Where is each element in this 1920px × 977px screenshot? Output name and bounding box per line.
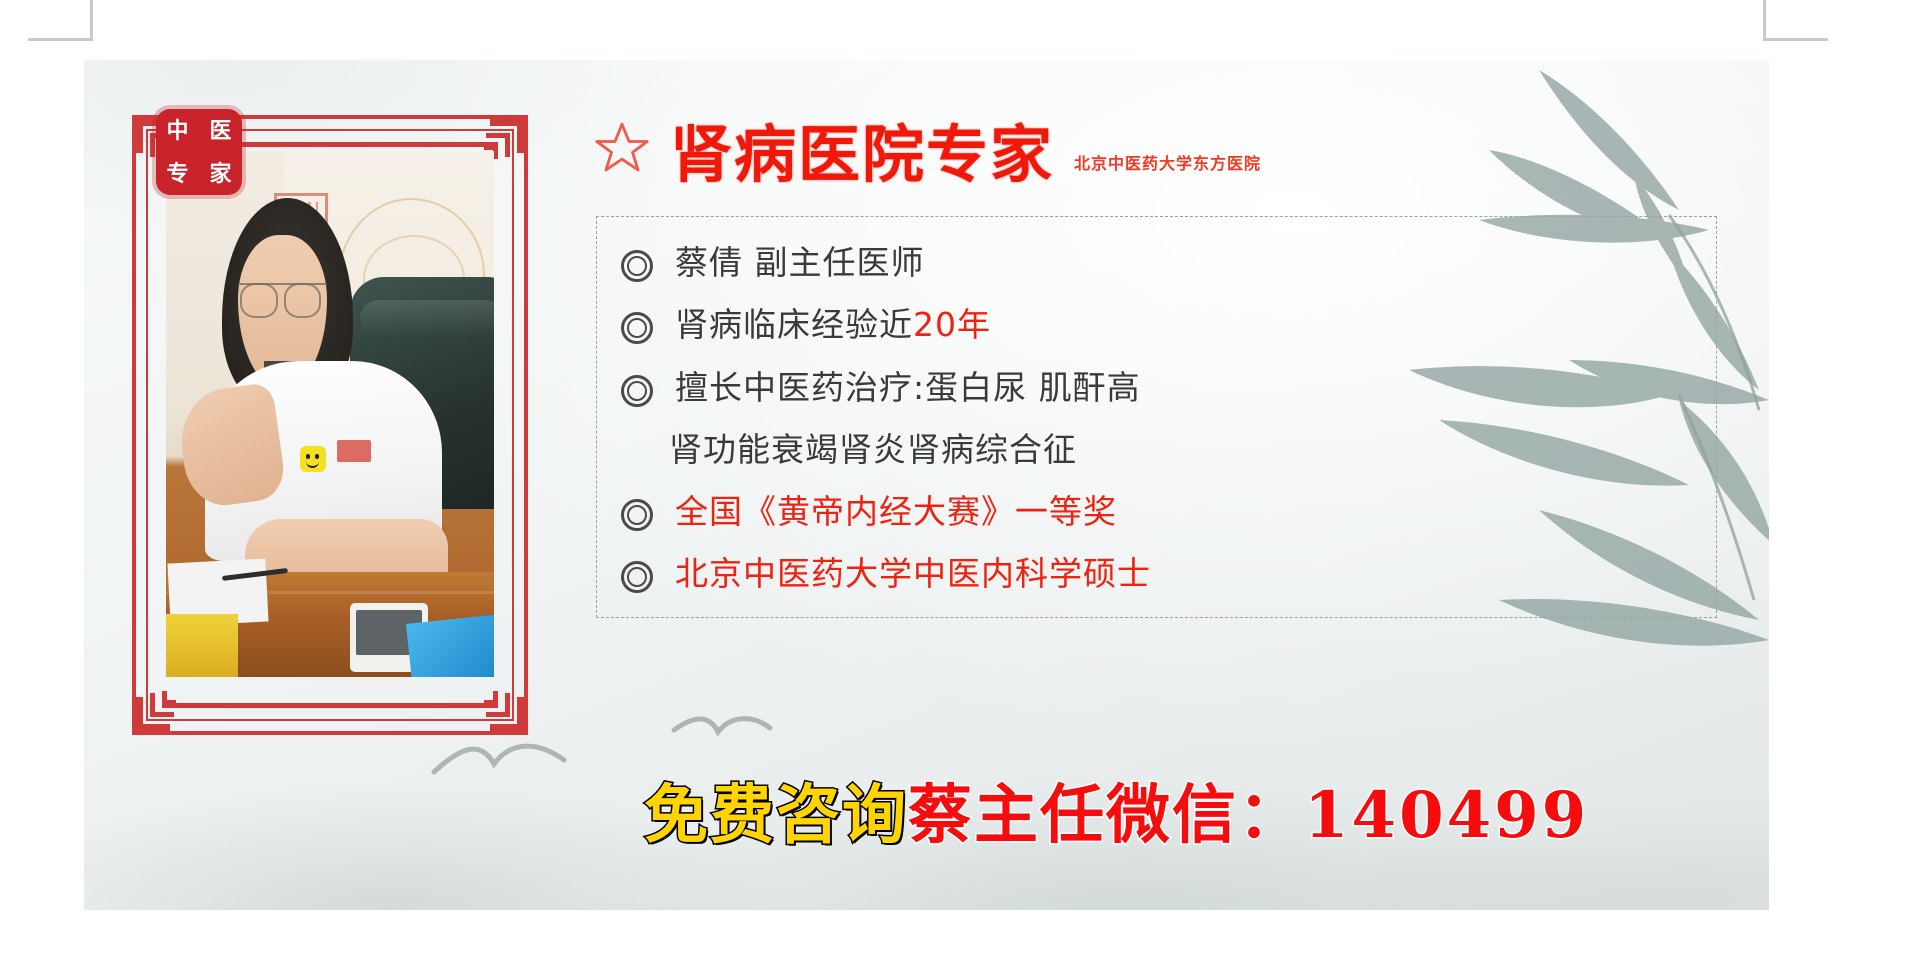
credential-text: 肾病临床经验近20年 — [675, 305, 991, 345]
wechat-number: 140499 — [1304, 778, 1589, 853]
credential-row: 擅长中医药治疗:蛋白尿 肌酐高 — [621, 368, 1702, 408]
doctor-portrait-photo — [166, 151, 494, 677]
credential-text: 肾功能衰竭肾炎肾病综合征 — [669, 430, 1077, 470]
free-consult-label: 免费咨询 — [644, 778, 908, 853]
credential-text: 全国《黄帝内经大赛》一等奖 — [675, 492, 1117, 532]
page-title: 肾病医院专家 — [670, 124, 1054, 186]
credential-row: 北京中医药大学中医内科学硕士 — [621, 554, 1702, 594]
credential-row: 蔡倩 副主任医师 — [621, 243, 1702, 283]
credential-row-continuation: 肾功能衰竭肾炎肾病综合征 — [621, 430, 1702, 470]
eyeglasses-icon — [238, 283, 327, 317]
credential-text: 擅长中医药治疗:蛋白尿 肌酐高 — [675, 368, 1141, 408]
double-circle-bullet-icon — [621, 312, 653, 344]
crop-mark-top-right — [1763, 0, 1828, 41]
credential-text: 蔡倩 副主任医师 — [675, 243, 925, 283]
credential-text-highlight: 20年 — [913, 305, 991, 344]
tcm-expert-seal: 中 医 专 家 — [156, 109, 242, 195]
seal-char-2: 医 — [209, 120, 231, 142]
credential-row: 肾病临床经验近20年 — [621, 305, 1702, 345]
hospital-subtitle: 北京中医药大学东方医院 — [1074, 150, 1261, 174]
poster-canvas: 中 医 专 家 肾病医院专家 北京中医药大学东方医院 蔡倩 副主任医师 肾病临床… — [84, 60, 1769, 910]
frame-corner-bottom-left — [136, 673, 194, 731]
crop-mark-top-left — [28, 0, 93, 41]
credential-text-plain: 肾病临床经验近 — [675, 305, 913, 344]
frame-line-bottom — [162, 703, 498, 708]
seal-char-3: 专 — [166, 163, 188, 185]
doctor-photo-frame: 中 医 专 家 — [132, 115, 528, 735]
star-icon — [594, 120, 650, 176]
seal-char-4: 家 — [209, 163, 231, 185]
info-column: 肾病医院专家 北京中医药大学东方医院 蔡倩 副主任医师 肾病临床经验近20年 擅… — [584, 120, 1729, 618]
credentials-box: 蔡倩 副主任医师 肾病临床经验近20年 擅长中医药治疗:蛋白尿 肌酐高 肾功能衰… — [596, 216, 1717, 618]
double-circle-bullet-icon — [621, 250, 653, 282]
wechat-label: 蔡主任微信： — [908, 778, 1304, 853]
contact-banner: 免费咨询蔡主任微信：140499 — [644, 784, 1589, 848]
smiley-badge-icon — [300, 446, 326, 472]
double-circle-bullet-icon — [621, 561, 653, 593]
credential-text: 北京中医药大学中医内科学硕士 — [675, 554, 1151, 594]
double-circle-bullet-icon — [621, 375, 653, 407]
title-row: 肾病医院专家 北京中医药大学东方医院 — [584, 120, 1729, 186]
seal-char-1: 中 — [166, 120, 188, 142]
double-circle-bullet-icon — [621, 499, 653, 531]
bullet-spacer — [621, 437, 647, 463]
frame-corner-bottom-right — [466, 673, 524, 731]
credential-row: 全国《黄帝内经大赛》一等奖 — [621, 492, 1702, 532]
